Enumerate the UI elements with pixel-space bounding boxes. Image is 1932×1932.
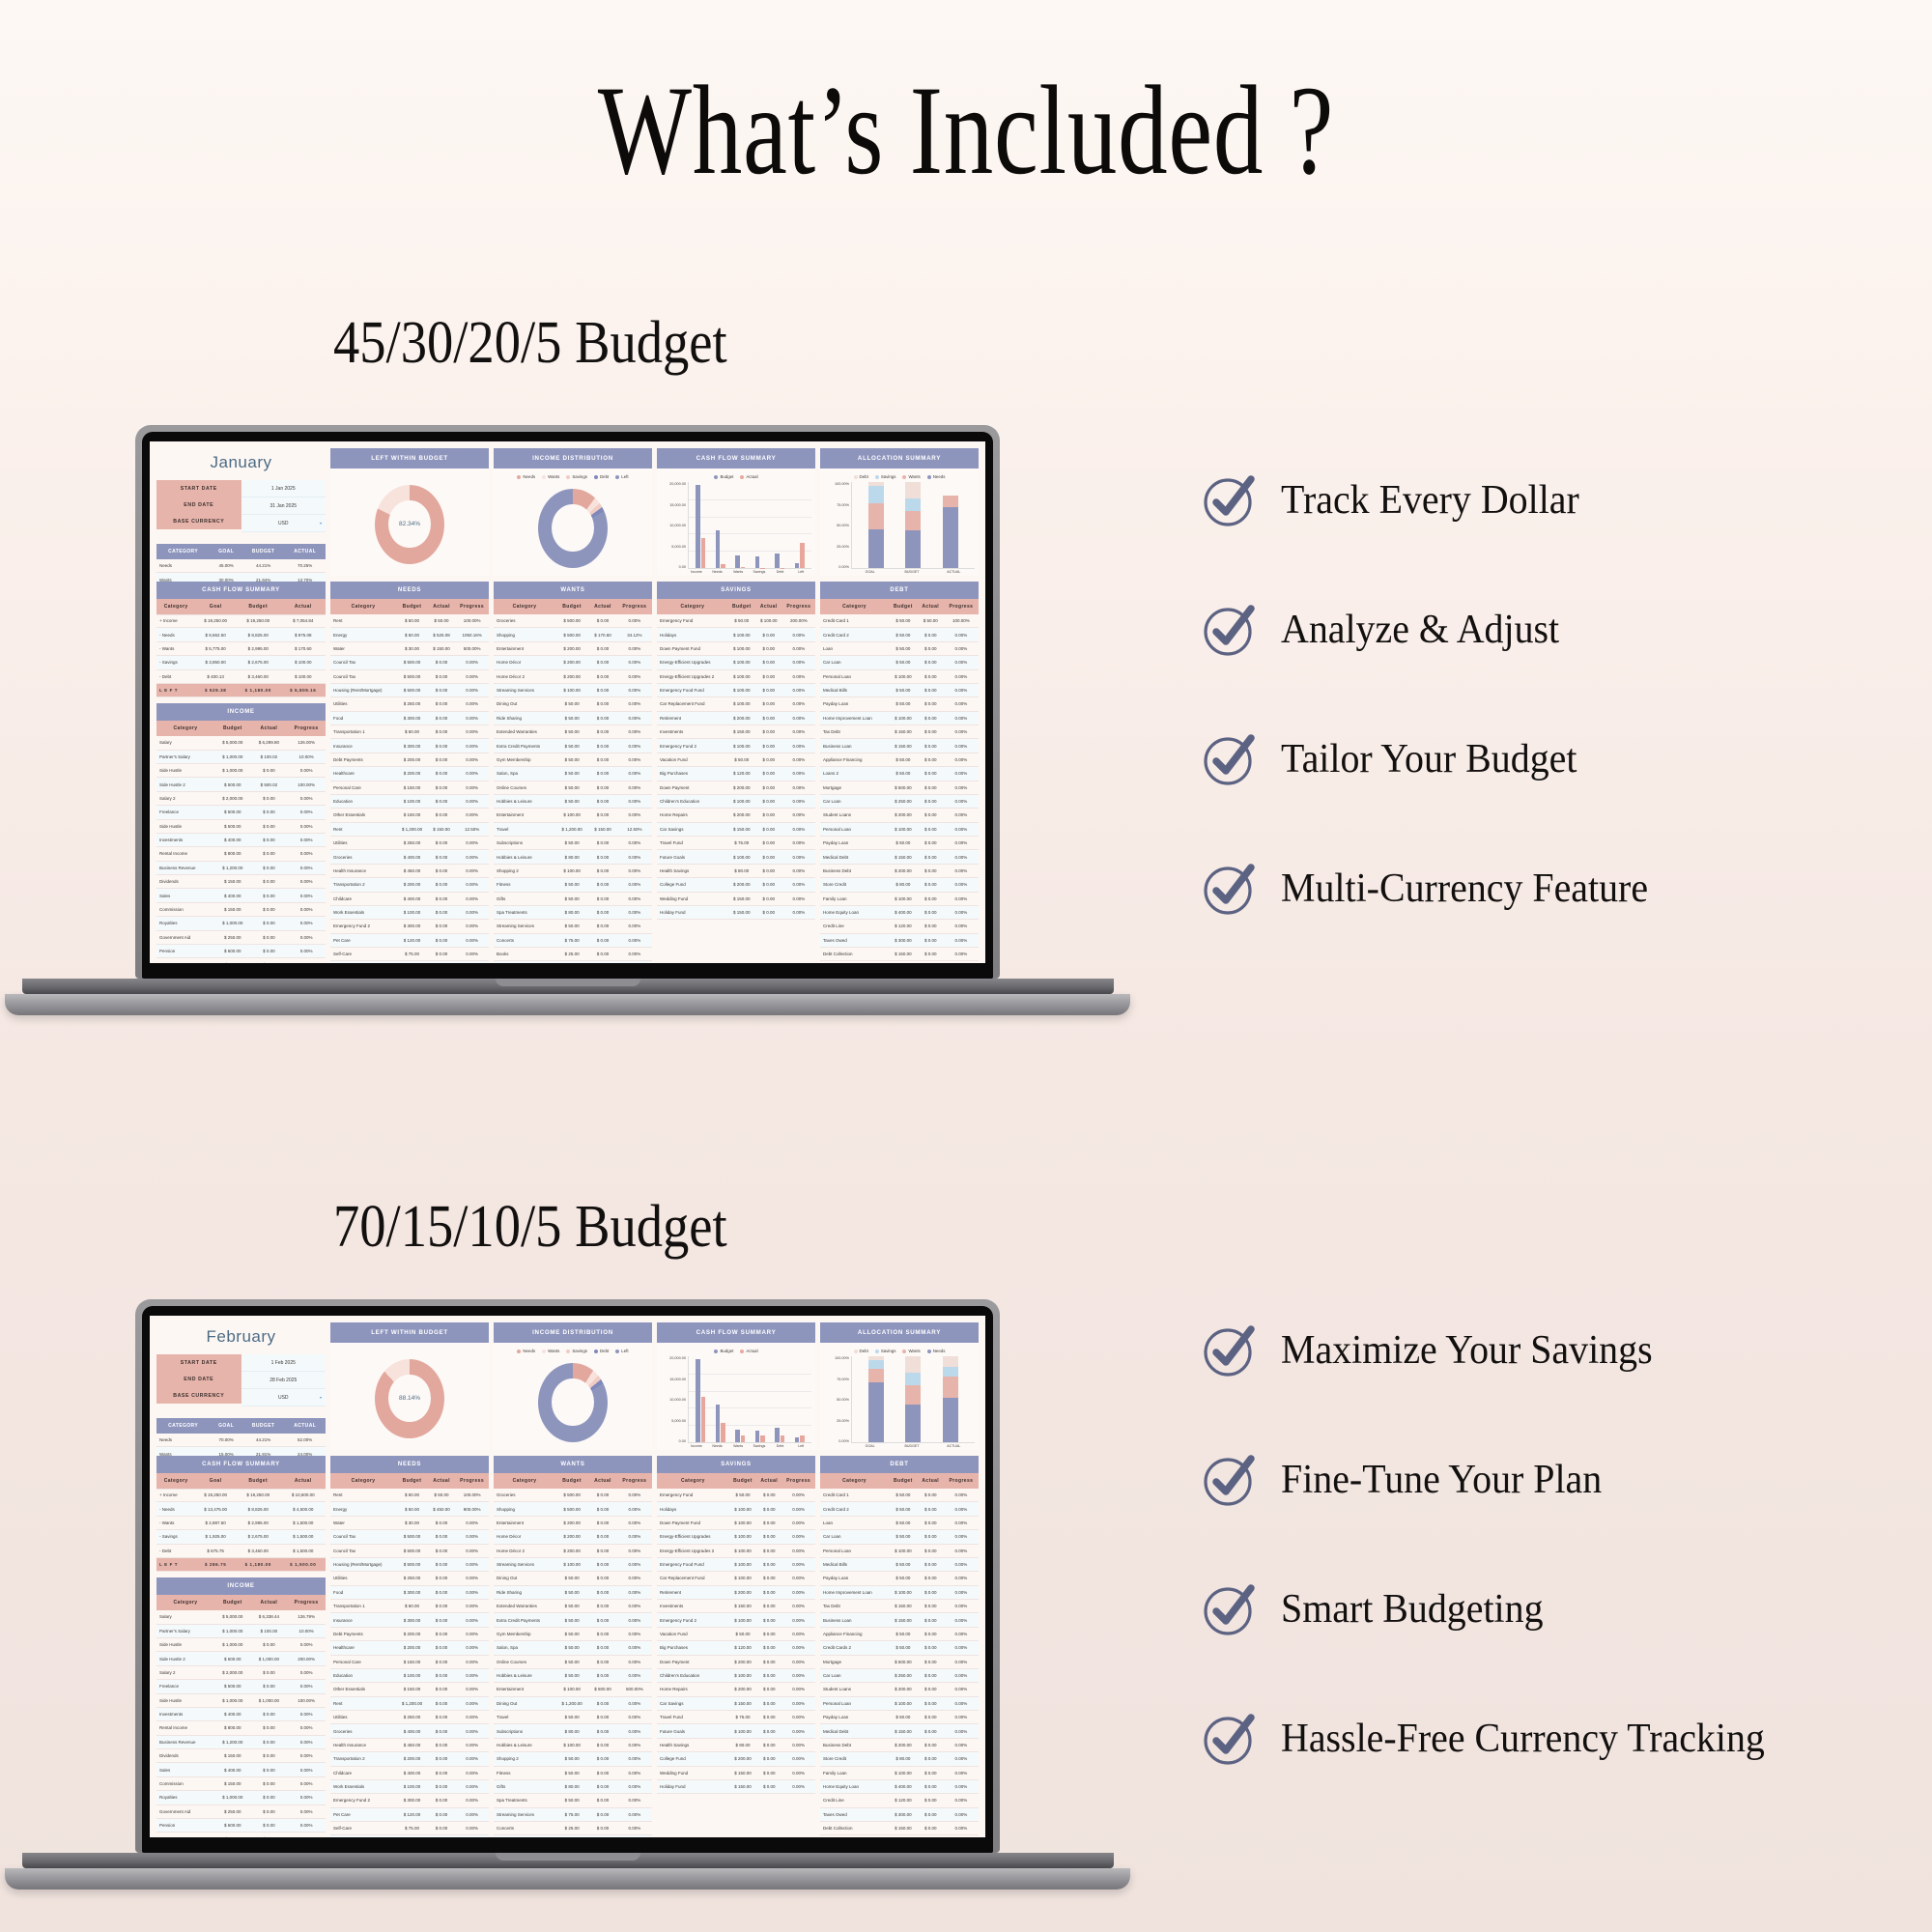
table-cell: $ 100.00: [729, 1557, 756, 1571]
data-table: CategoryBudgetActualProgressEmergency Fu…: [657, 1473, 815, 1794]
table-cell: $ 0.00: [588, 850, 617, 864]
table-cell: 0.00%: [455, 739, 489, 753]
table-cell: Business Loan: [820, 739, 889, 753]
table-cell: L E F T: [156, 1557, 195, 1571]
panel-title: CASH FLOW SUMMARY: [657, 448, 815, 469]
table-row: Sales$ 400.00$ 0.000.00%: [156, 1763, 326, 1776]
table-cell: Medical Bills: [820, 1557, 889, 1571]
table-cell: 70.00%: [210, 1434, 242, 1447]
table-cell: 0.00%: [617, 781, 652, 794]
table-cell: 0.00%: [617, 1641, 652, 1655]
table-cell: Credit Line: [820, 1794, 889, 1807]
summary-panel: FebruarySTART DATEEND DATEBASE CURRENCY1…: [156, 1322, 326, 1450]
table-cell: 0.00%: [455, 725, 489, 739]
bar: [696, 485, 700, 568]
table-row: Big Purchases$ 120.00$ 0.000.00%: [657, 1641, 815, 1655]
table-cell: $ 0.00: [756, 1779, 781, 1793]
table-row: Dividends$ 150.00$ 0.000.00%: [156, 875, 326, 889]
table-row: Government Aid$ 250.00$ 0.000.00%: [156, 1804, 326, 1818]
chart-legend: NeedsWantsSavingsDebtLeft: [497, 1349, 648, 1353]
table-cell: 0.00%: [455, 1600, 489, 1613]
table-cell: $ 50.00: [396, 1489, 428, 1502]
table-cell: $ 0.00: [428, 669, 455, 683]
table-cell: $ 0.00: [588, 767, 617, 781]
legend-item: Budget: [714, 1349, 733, 1353]
feature-list-70-15-10-5: Maximize Your SavingsFine-Tune Your Plan…: [1203, 1323, 1790, 1841]
table-cell: $ 0.00: [588, 1585, 617, 1599]
table-row: Rental Income$ 800.00$ 0.000.00%: [156, 1721, 326, 1735]
chart-legend: DebtSavingsWantsNeeds: [824, 1349, 975, 1353]
bar: [781, 1435, 785, 1442]
meta-values: 1 Feb 202528 Feb 2025USD: [241, 1354, 327, 1406]
table-cell: Credit Card 2: [820, 1502, 889, 1516]
table-cell: 0.00%: [287, 764, 326, 778]
table-row: Children's Education$ 100.00$ 0.000.00%: [657, 1668, 815, 1682]
table-row: Shopping 2$ 100.00$ 0.000.00%: [494, 864, 652, 877]
table-cell: $ 150.00: [214, 1749, 251, 1763]
table-cell: 0.00%: [781, 1516, 815, 1529]
stacked-bar: [868, 1356, 884, 1442]
currency-select[interactable]: USD: [241, 1389, 327, 1406]
table-cell: $ 0.00: [918, 1794, 944, 1807]
table-cell: Groceries: [494, 1489, 555, 1502]
table-title: NEEDS: [330, 1456, 489, 1473]
table-cell: $ 2,000.00: [214, 791, 251, 805]
table-cell: Future Goals: [657, 850, 728, 864]
table-cell: 0.00%: [944, 933, 979, 947]
table-row: Energy-Efficient Upgrades$ 100.00$ 0.000…: [657, 1530, 815, 1544]
table-cell: 100.00%: [455, 614, 489, 628]
meta-value: 1 Feb 2025: [241, 1354, 327, 1372]
table-cell: $ 200.00: [555, 669, 588, 683]
table-cell: $ 500.00: [214, 1680, 251, 1693]
table-cell: $ 0.00: [918, 1613, 944, 1627]
table-cell: $ 0.00: [918, 920, 944, 933]
currency-select[interactable]: USD: [241, 515, 327, 532]
laptop-screen[interactable]: JanuarySTART DATEEND DATEBASE CURRENCY1 …: [150, 441, 985, 963]
table-cell: $ 50.00: [555, 1794, 588, 1807]
table-title: SAVINGS: [657, 582, 815, 599]
table-title: INCOME: [156, 703, 326, 721]
y-tick: 0.00: [663, 1439, 686, 1443]
table-cell: 0.00%: [944, 1794, 979, 1807]
table-cell: $ 0.00: [428, 1572, 455, 1585]
table-cell: $ 500.02: [251, 778, 288, 791]
table-cell: 0.00%: [944, 892, 979, 905]
table-row: Royalties$ 1,000.00$ 0.000.00%: [156, 1791, 326, 1804]
meta-label: END DATE: [156, 497, 241, 513]
table-cell: $ 250.00: [396, 837, 428, 850]
table-cell: $ 150.00: [889, 948, 918, 961]
table-cell: $ 150.00: [214, 1776, 251, 1790]
table-cell: $ 0.00: [918, 739, 944, 753]
table-cell: Education: [330, 1835, 396, 1837]
table-cell: $ 0.00: [588, 1779, 617, 1793]
table-cell: $ 0.00: [588, 1766, 617, 1779]
table-cell: $ 0.00: [755, 781, 782, 794]
table-cell: $ 0.00: [251, 1791, 288, 1804]
data-table: CategoryBudgetActualProgressCredit Card …: [820, 1473, 979, 1835]
table-row: Home Improvement Loan$ 100.00$ 0.000.00%: [820, 711, 979, 724]
table-cell: $ 0.00: [755, 753, 782, 766]
table-cell: Freelance: [156, 806, 214, 819]
table-cell: $ 75.00: [555, 1807, 588, 1821]
bar-group: [696, 482, 705, 568]
table-row: Travel$ 1,200.00$ 150.0012.50%: [494, 822, 652, 836]
table-cell: $ 200.00: [396, 767, 428, 781]
table-row: Health Savings$ 80.00$ 0.000.00%: [657, 1738, 815, 1751]
table-cell: Emergency Fund 2: [657, 739, 728, 753]
table-cell: Side Hustle 2: [156, 778, 214, 791]
table-cell: 0.00%: [455, 1627, 489, 1640]
table-title: WANTS: [494, 582, 652, 599]
table-cell: $ 0.00: [428, 725, 455, 739]
table-cell: $ 400.13: [195, 669, 236, 683]
table-cell: $ 120.00: [729, 1641, 756, 1655]
table-cell: 0.00%: [455, 905, 489, 919]
table-cell: Appliance Financing: [820, 1627, 889, 1640]
table-scroll-area[interactable]: CategoryBudgetActualProgressGroceries$ 5…: [494, 599, 652, 963]
table-cell: $ 3,850.00: [195, 656, 236, 669]
table-cell: $ 0.00: [251, 1833, 288, 1837]
table-cell: $ 1,000.00: [214, 1693, 251, 1707]
table-cell: $ 500.00: [396, 1544, 428, 1557]
table-header-row: CategoryBudgetActualProgress: [156, 721, 326, 736]
table-cell: $ 2,995.00: [236, 641, 281, 655]
table-cell: Groceries: [330, 850, 396, 864]
table-row: Entertainment$ 200.00$ 0.000.00%: [494, 641, 652, 655]
table-cell: 0.00%: [287, 847, 326, 861]
table-cell: $ 450.00: [428, 1502, 455, 1516]
table-cell: $ 50.00: [555, 1600, 588, 1613]
table-cell: $ 0.00: [428, 920, 455, 933]
table-cell: $ 500.00: [555, 1489, 588, 1502]
table-cell: 0.00%: [287, 917, 326, 930]
column-header: GOAL: [210, 1418, 242, 1434]
table-cell: Insurance: [330, 1613, 396, 1627]
legend-item: Actual: [740, 474, 757, 479]
table-cell: $ 250.00: [214, 1804, 251, 1818]
table-cell: - Needs: [156, 628, 195, 641]
column-header: Actual: [918, 599, 944, 614]
table-scroll-area[interactable]: CategoryBudgetActualProgressSalary$ 5,00…: [156, 721, 326, 963]
table-cell: $ 0.00: [918, 837, 944, 850]
table-cell: $ 0.00: [588, 725, 617, 739]
table-cell: 100.00%: [944, 614, 979, 628]
panel-title: ALLOCATION SUMMARY: [820, 1322, 979, 1343]
table-row: Rent$ 50.00$ 50.00100.00%: [330, 614, 489, 628]
table-row: Car Loan$ 250.00$ 0.000.00%: [820, 794, 979, 808]
table-cell: $ 100.00: [729, 1502, 756, 1516]
table-cell: $ 0.00: [588, 781, 617, 794]
table-cell: 0.00%: [617, 961, 652, 963]
table-cell: $ 0.00: [918, 948, 944, 961]
table-cell: Spa Treatments: [494, 905, 555, 919]
table-cell: Salary: [156, 736, 214, 750]
laptop-screen[interactable]: FebruarySTART DATEEND DATEBASE CURRENCY1…: [150, 1316, 985, 1837]
laptop-lid: FebruarySTART DATEEND DATEBASE CURRENCY1…: [135, 1299, 1000, 1853]
table-cell: $ 150.00: [889, 1613, 918, 1627]
table-row: College Fund$ 200.00$ 0.000.00%: [657, 1752, 815, 1766]
table-cell: 0.00%: [617, 739, 652, 753]
column-header: Actual: [251, 721, 288, 736]
table-row: Side Hustle$ 500.00$ 0.000.00%: [156, 819, 326, 833]
x-tick: Needs: [707, 570, 728, 574]
income-distribution-panel: INCOME DISTRIBUTIONNeedsWantsSavingsDebt…: [494, 1322, 652, 1450]
table-cell: $ 0.00: [755, 739, 782, 753]
table-cell: Business Loan: [820, 1613, 889, 1627]
table-cell: $ 0.00: [918, 725, 944, 739]
table-cell: 45.00%: [210, 559, 242, 573]
table-cell: Car Savings: [657, 822, 728, 836]
column-header: Actual: [251, 1595, 288, 1610]
table-cell: $ 800.00: [214, 1721, 251, 1735]
table-row: Car Loan$ 50.00$ 0.000.00%: [820, 1530, 979, 1544]
table-cell: Credit Card 1: [820, 1489, 889, 1502]
table-cell: $ 100.00: [396, 905, 428, 919]
table-row: Utilities$ 250.00$ 0.000.00%: [330, 697, 489, 711]
bar: [760, 1435, 765, 1442]
table-scroll-area[interactable]: CategoryBudgetActualProgressRent$ 50.00$…: [330, 599, 489, 963]
table-cell: $ 0.00: [428, 1544, 455, 1557]
table-cell: $ 0.00: [428, 1738, 455, 1751]
donut-center-label: 82.34%: [399, 521, 420, 527]
table-cell: Down Payment Fund: [657, 1516, 729, 1529]
table-cell: $ 100.00: [729, 1668, 756, 1682]
stack-segment: [868, 1360, 884, 1369]
table-cell: $ 150.00: [889, 850, 918, 864]
table-cell: Interest Income: [156, 958, 214, 963]
table-cell: $ 0.00: [918, 1641, 944, 1655]
table-cell: 0.00%: [455, 1530, 489, 1544]
table-cell: 0.00%: [944, 1641, 979, 1655]
table-cell: 0.00%: [944, 1502, 979, 1516]
table-cell: Loan: [820, 641, 889, 655]
table-row: Side Hustle$ 1,000.00$ 1,000.00100.00%: [156, 1693, 326, 1707]
table-scroll-area[interactable]: CategoryBudgetActualProgressGroceries$ 5…: [494, 1473, 652, 1837]
column-header: BUDGET: [242, 1418, 284, 1434]
table-row: Electronics$ 50.00$ 0.000.00%: [494, 961, 652, 963]
table-cell: 0.00%: [944, 697, 979, 711]
table-cell: $ 0.00: [756, 1516, 781, 1529]
table-row: Council Tax$ 500.00$ 0.000.00%: [330, 1530, 489, 1544]
table-cell: Debt Payments: [330, 1627, 396, 1640]
table-cell: $ 0.00: [428, 1655, 455, 1668]
table-cell: $ 300.00: [889, 1807, 918, 1821]
table-cell: 0.00%: [944, 739, 979, 753]
table-cell: $ 80.00: [555, 1724, 588, 1738]
table-row: Energy-Efficient Upgrades 2$ 100.00$ 0.0…: [657, 669, 815, 683]
x-tick: Income: [686, 1444, 707, 1448]
table-cell: Emergency Fund 2: [657, 1613, 729, 1627]
table-scroll-area[interactable]: CategoryBudgetActualProgressEmergency Fu…: [657, 1473, 815, 1837]
table-cell: 0.00%: [782, 809, 815, 822]
bar: [741, 567, 746, 568]
legend-item: Wants: [542, 474, 559, 479]
table-cell: Shopping: [494, 628, 555, 641]
table-cell: 0.00%: [617, 878, 652, 892]
table-row: Dividends$ 150.00$ 0.000.00%: [156, 1749, 326, 1763]
table-row: Entertainment$ 100.00$ 500.00500.00%: [494, 1683, 652, 1696]
table-cell: $ 0.00: [918, 892, 944, 905]
table-cell: $ 600.00: [214, 1818, 251, 1832]
table-cell: $ 120.00: [728, 767, 755, 781]
laptop-mockup-january: JanuarySTART DATEEND DATEBASE CURRENCY1 …: [0, 425, 1135, 1015]
table-cell: Royalties: [156, 1791, 214, 1804]
y-tick: 15,000.00: [663, 1378, 686, 1381]
table-cell: 0.00%: [287, 958, 326, 963]
table-row: Rent$ 50.00$ 50.00100.00%: [330, 1489, 489, 1502]
table-cell: $ 50.00: [889, 1572, 918, 1585]
table-cell: Children's Education: [657, 794, 728, 808]
table-cell: Personal Loan: [820, 1696, 889, 1710]
check-circle-icon: [1203, 862, 1257, 916]
table-cell: 0.00%: [781, 1502, 815, 1516]
table-row: Royalties$ 1,000.00$ 0.000.00%: [156, 917, 326, 930]
table-cell: $ 80.00: [729, 1738, 756, 1751]
table-cell: Big Purchases: [657, 1641, 729, 1655]
stack-segment: [868, 1369, 884, 1381]
table-cell: $ 0.00: [251, 958, 288, 963]
data-table: CategoryBudgetActualProgressCredit Card …: [820, 599, 979, 961]
table-cell: $ 50.00: [889, 1641, 918, 1655]
table-cell: Needs: [156, 1434, 210, 1447]
y-tick: 50.00%: [826, 524, 849, 527]
table-row: Water$ 30.00$ 0.000.00%: [330, 1516, 489, 1529]
table-cell: 0.00%: [287, 861, 326, 874]
table-cell: $ 500.00: [214, 806, 251, 819]
table-row: Car Replacement Fund$ 100.00$ 0.000.00%: [657, 697, 815, 711]
stack-segment: [905, 530, 921, 568]
legend-swatch: [854, 475, 858, 479]
data-table: CategoryGoalBudgetActual+ Income$ 19,250…: [156, 1473, 326, 1572]
bar: [735, 555, 740, 568]
table-cell: $ 0.00: [918, 878, 944, 892]
table-cell: $ 50.00: [214, 958, 251, 963]
table-cell: $ 170.60: [280, 641, 326, 655]
table-cell: $ 0.00: [251, 917, 288, 930]
table-cell: $ 1,200.00: [214, 1735, 251, 1748]
table-row: Utilities$ 250.00$ 0.000.00%: [330, 1711, 489, 1724]
table-cell: $ 0.00: [756, 1766, 781, 1779]
table-row: Salon, Spa$ 50.00$ 0.000.00%: [494, 1641, 652, 1655]
table-cell: $ 0.00: [918, 794, 944, 808]
table-cell: $ 100.00: [555, 1738, 588, 1751]
meta-value: 31 Jan 2025: [241, 497, 327, 515]
table-cell: Loan: [820, 1516, 889, 1529]
table-cell: $ 0.00: [428, 837, 455, 850]
table-cell: 0.00%: [944, 669, 979, 683]
table-cell: 0.00%: [944, 656, 979, 669]
bar: [800, 543, 805, 568]
legend-swatch: [615, 1350, 619, 1353]
table-cell: 0.00%: [455, 920, 489, 933]
table-cell: Home Improvement Loan: [820, 711, 889, 724]
table-cell: 0.00%: [455, 1613, 489, 1627]
wants-column: WANTSCategoryBudgetActualProgressGroceri…: [494, 582, 652, 963]
table-cell: Education: [330, 961, 396, 963]
table-cell: $ 150.00: [428, 641, 455, 655]
meta-label: BASE CURRENCY: [156, 1387, 241, 1404]
column-header: Actual: [756, 1473, 781, 1489]
table-cell: Streaming Services: [494, 1807, 555, 1821]
table-cell: $ 0.00: [428, 739, 455, 753]
table-cell: Store Credit: [820, 1752, 889, 1766]
table-cell: Online Courses: [494, 1655, 555, 1668]
table-row: Mortgage$ 500.00$ 0.000.00%: [820, 781, 979, 794]
table-cell: 0.00%: [617, 837, 652, 850]
table-cell: 0.00%: [287, 1763, 326, 1776]
table-cell: $ 0.00: [251, 791, 288, 805]
table-cell: $ 400.00: [396, 1766, 428, 1779]
table-cell: 0.00%: [455, 767, 489, 781]
table-cell: $ 0.00: [251, 847, 288, 861]
gridline: [689, 551, 811, 552]
table-row: - Savings$ 3,850.00$ 2,675.00$ 100.00: [156, 656, 326, 669]
table-scroll-area[interactable]: CategoryBudgetActualProgressRent$ 50.00$…: [330, 1473, 489, 1837]
table-cell: 0.00%: [782, 837, 815, 850]
table-cell: $ 1,500.00: [280, 1557, 326, 1571]
table-cell: Interest Income: [156, 1833, 214, 1837]
table-cell: Dining Out: [494, 697, 555, 711]
table-cell: Fitness: [494, 878, 555, 892]
table-cell: Holiday Fund: [657, 1779, 729, 1793]
gridline: [689, 1391, 811, 1392]
table-cell: 0.00%: [617, 767, 652, 781]
table-cell: $ 0.00: [918, 1489, 944, 1502]
table-cell: $ 200.00: [729, 1752, 756, 1766]
table-row: Holiday Fund$ 150.00$ 0.000.00%: [657, 1779, 815, 1793]
table-cell: $ 0.00: [756, 1711, 781, 1724]
table-cell: Personal Loan: [820, 822, 889, 836]
table-scroll-area[interactable]: CategoryBudgetActualProgressCredit Card …: [820, 599, 979, 963]
wants-column: WANTSCategoryBudgetActualProgressGroceri…: [494, 1456, 652, 1837]
table-cell: $ 75.00: [396, 948, 428, 961]
table-cell: $ 0.00: [918, 1724, 944, 1738]
table-row: Credit Cards 2$ 50.00$ 0.000.00%: [820, 1641, 979, 1655]
table-scroll-area[interactable]: CategoryBudgetActualProgressSalary$ 5,00…: [156, 1595, 326, 1837]
table-cell: Entertainment: [494, 1516, 555, 1529]
column-header: Category: [494, 599, 555, 614]
table-cell: Electronics: [494, 961, 555, 963]
table-cell: Car Loan: [820, 1530, 889, 1544]
bar-group: [716, 482, 725, 568]
table-cell: 0.00%: [781, 1711, 815, 1724]
table-cell: Gym Membership: [494, 1627, 555, 1640]
x-tick: Debt: [770, 1444, 791, 1448]
stacked-bar: [943, 1356, 958, 1442]
plot-area: [688, 1356, 811, 1443]
table-cell: Appliance Financing: [820, 753, 889, 766]
table-cell: 100.00%: [455, 1489, 489, 1502]
table-scroll-area[interactable]: CategoryBudgetActualProgressCredit Card …: [820, 1473, 979, 1837]
table-row: Fitness$ 50.00$ 0.000.00%: [494, 1766, 652, 1779]
table-cell: 0.00%: [455, 1557, 489, 1571]
table-row: Education$ 100.00$ 0.000.00%: [330, 794, 489, 808]
table-cell: $ 200.00: [555, 656, 588, 669]
column-header: Budget: [555, 599, 588, 614]
table-row: Utilities$ 250.00$ 0.000.00%: [330, 837, 489, 850]
table-cell: Investments: [156, 1707, 214, 1720]
table-cell: Dining Out: [494, 1696, 555, 1710]
table-row: Side Hustle$ 1,000.00$ 0.000.00%: [156, 1638, 326, 1652]
table-cell: Food: [330, 1585, 396, 1599]
table-scroll-area[interactable]: CategoryBudgetActualProgressEmergency Fu…: [657, 599, 815, 963]
table-cell: $ 100.00: [555, 864, 588, 877]
table-row: - Savings$ 1,925.00$ 2,675.00$ 1,500.00: [156, 1530, 326, 1544]
table-cell: $ 150.00: [729, 1779, 756, 1793]
table-cell: $ 100.00: [729, 1724, 756, 1738]
